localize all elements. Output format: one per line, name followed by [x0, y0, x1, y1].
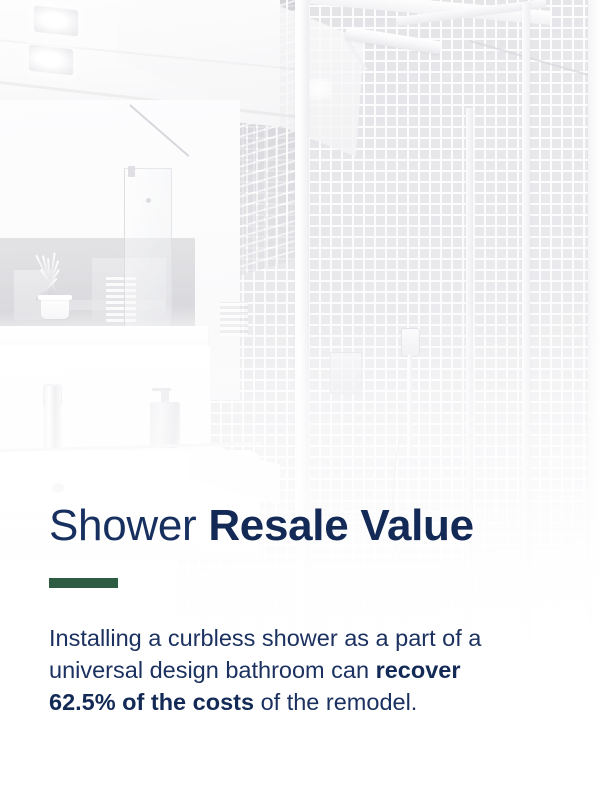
shower-niche: [330, 352, 362, 394]
glass-partition: [124, 168, 172, 334]
infographic-card: Shower Resale Value Installing a curbles…: [0, 0, 600, 800]
glass-clip: [128, 166, 135, 177]
text-block: Shower Resale Value Installing a curbles…: [49, 500, 549, 718]
light-reflection: [306, 78, 332, 100]
plant-pot: [41, 297, 69, 319]
glass-fitting: [146, 198, 151, 203]
body-paragraph: Installing a curbless shower as a part o…: [49, 622, 504, 718]
shelf-item: [220, 302, 248, 336]
title-bold-part: Resale Value: [208, 501, 473, 550]
title-light-part: Shower: [49, 501, 208, 550]
page-title: Shower Resale Value: [49, 500, 549, 552]
sink-drain: [52, 483, 64, 492]
ceiling-light-icon: [34, 6, 78, 37]
ceiling-light-icon: [29, 45, 73, 76]
soap-dispenser: [150, 402, 180, 448]
plant-pot-rim: [38, 295, 72, 300]
accent-rule: [49, 578, 118, 588]
faucet: [44, 386, 61, 452]
body-segment-3: of the remodel.: [254, 689, 417, 715]
shower-glass-edge: [588, 0, 600, 800]
hand-shower-head: [401, 328, 420, 357]
floor-tile-line: [198, 748, 423, 797]
floor-tile-line: [0, 753, 149, 772]
